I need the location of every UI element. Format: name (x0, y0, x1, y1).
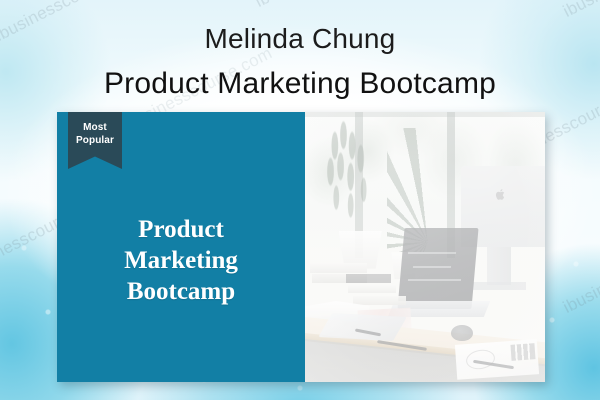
page-header: Melinda Chung Product Marketing Bootcamp (0, 0, 600, 99)
imac-base (473, 282, 526, 290)
bar-chart-drawing (511, 343, 536, 361)
desk-workspace-photo (305, 112, 545, 382)
most-popular-badge: Most Popular (68, 112, 122, 169)
laptop-screen (397, 228, 478, 309)
course-card-title-line2: Marketing (124, 245, 238, 276)
badge-label-line2: Popular (76, 134, 114, 147)
stacked-book (310, 263, 368, 272)
imac-stand (487, 247, 511, 285)
stacked-book (353, 296, 406, 305)
screenshot-canvas: ibusinesscourse.com ibusinesscourse.com … (0, 0, 600, 400)
graphics-tablet (318, 312, 407, 340)
apple-logo-icon (495, 188, 506, 201)
instructor-name: Melinda Chung (0, 0, 600, 53)
badge-label-line1: Most (83, 121, 107, 134)
laptop-screen-text-line (413, 266, 452, 268)
window-frame-top (305, 112, 545, 117)
course-card-photo (305, 112, 545, 382)
course-card-title: Product Marketing Bootcamp (124, 214, 238, 307)
course-card-panel: Most Popular Product Marketing Bootcamp (57, 112, 305, 382)
course-card-title-line1: Product (124, 214, 238, 245)
course-card-title-line3: Bootcamp (124, 276, 238, 307)
stacked-book (346, 274, 392, 283)
stacked-book (348, 285, 396, 294)
page-title: Product Marketing Bootcamp (0, 53, 600, 99)
course-card[interactable]: Most Popular Product Marketing Bootcamp (57, 112, 545, 382)
zz-plant-icon (319, 117, 391, 247)
